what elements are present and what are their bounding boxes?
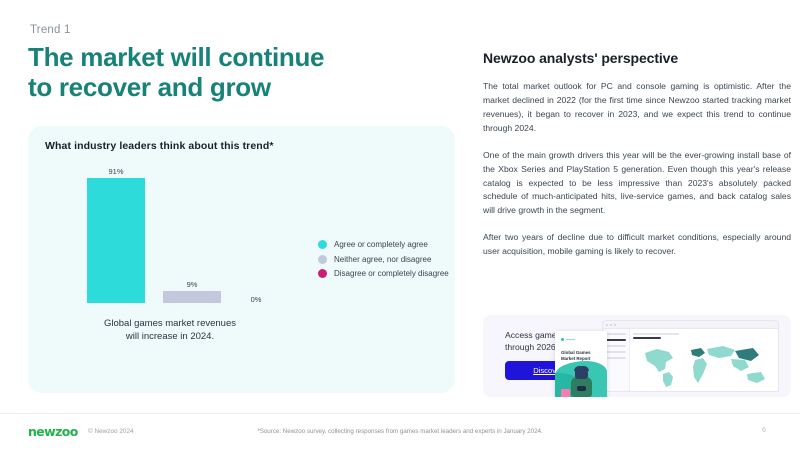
sidebar-line-active xyxy=(606,339,626,341)
bar-chart-plot-area: 91% 9% 0% xyxy=(45,168,295,303)
sidebar-line xyxy=(606,357,626,359)
sidebar-line xyxy=(606,333,626,335)
slide-header: Trend 1 The market will continue to reco… xyxy=(28,24,458,103)
perspective-paragraph: The total market outlook for PC and cons… xyxy=(483,80,791,136)
page-number: 6 xyxy=(762,427,766,434)
chart-category-label-line1: Global games market revenues xyxy=(104,318,236,329)
trend-eyebrow: Trend 1 xyxy=(30,24,458,36)
perspective-title: Newzoo analysts' perspective xyxy=(483,50,791,66)
page-title: The market will continue to recover and … xyxy=(28,42,458,103)
page-title-line2: to recover and grow xyxy=(28,72,458,102)
slide-root: Trend 1 The market will continue to reco… xyxy=(0,0,800,450)
source-note: *Source: Newzoo survey, collecting respo… xyxy=(0,428,800,435)
legend-dot-icon xyxy=(318,255,327,264)
analysts-perspective: Newzoo analysts' perspective The total m… xyxy=(483,50,791,259)
legend-item-disagree: Disagree or completely disagree xyxy=(318,269,449,278)
sidebar-line xyxy=(606,345,626,347)
bar-agree xyxy=(87,178,145,303)
dashboard-toolbar-line xyxy=(633,333,679,335)
perspective-paragraph: After two years of decline due to diffic… xyxy=(483,231,791,259)
chart-title: What industry leaders think about this t… xyxy=(45,140,274,152)
chart-category-label-line2: will increase in 2024. xyxy=(126,331,214,342)
cover-character-hat xyxy=(574,366,589,371)
sidebar-line xyxy=(606,351,626,353)
legend-dot-icon xyxy=(318,240,327,249)
cover-box-shape xyxy=(561,389,570,397)
bar-value-label: 0% xyxy=(237,296,275,304)
chart-card: What industry leaders think about this t… xyxy=(28,126,455,393)
legend-item-agree: Agree or completely agree xyxy=(318,240,449,249)
dashboard-screenshot-image xyxy=(603,321,778,391)
perspective-paragraph: One of the main growth drivers this year… xyxy=(483,149,791,219)
page-title-line1: The market will continue xyxy=(28,42,324,72)
world-map-icon xyxy=(635,341,773,389)
dashboard-body xyxy=(603,329,778,391)
bar-group-agree: 91% xyxy=(87,168,145,304)
legend-label: Neither agree, nor disagree xyxy=(334,255,431,264)
bar-value-label: 9% xyxy=(163,281,221,289)
browser-dot-icon xyxy=(614,324,616,326)
chart-category-label: Global games market revenues will increa… xyxy=(45,318,295,344)
dashboard-heading-line xyxy=(633,337,661,339)
report-cover-image: Global Games Market Report xyxy=(555,331,607,397)
cover-gamepad-icon xyxy=(577,386,586,391)
report-cover-title: Global Games Market Report xyxy=(561,350,601,362)
bar-value-label: 91% xyxy=(87,168,145,176)
dashboard-sidebar xyxy=(603,329,630,391)
browser-titlebar xyxy=(603,321,778,329)
bar-group-disagree: 0% xyxy=(237,296,275,304)
browser-dot-icon xyxy=(606,324,608,326)
legend-dot-icon xyxy=(318,269,327,278)
bar-group-neither: 9% xyxy=(163,281,221,304)
legend-label: Agree or completely agree xyxy=(334,240,428,249)
footer-divider xyxy=(0,413,800,414)
legend-item-neither: Neither agree, nor disagree xyxy=(318,255,449,264)
browser-dot-icon xyxy=(610,324,612,326)
bar-neither xyxy=(163,291,221,303)
newzoo-mark-icon xyxy=(561,338,575,341)
chart-legend: Agree or completely agree Neither agree,… xyxy=(318,240,449,284)
bar-chart: 91% 9% 0% Global games market revenues w… xyxy=(45,166,295,351)
cta-card[interactable]: Access games market revenue forecasts th… xyxy=(483,315,791,397)
legend-label: Disagree or completely disagree xyxy=(334,269,449,278)
